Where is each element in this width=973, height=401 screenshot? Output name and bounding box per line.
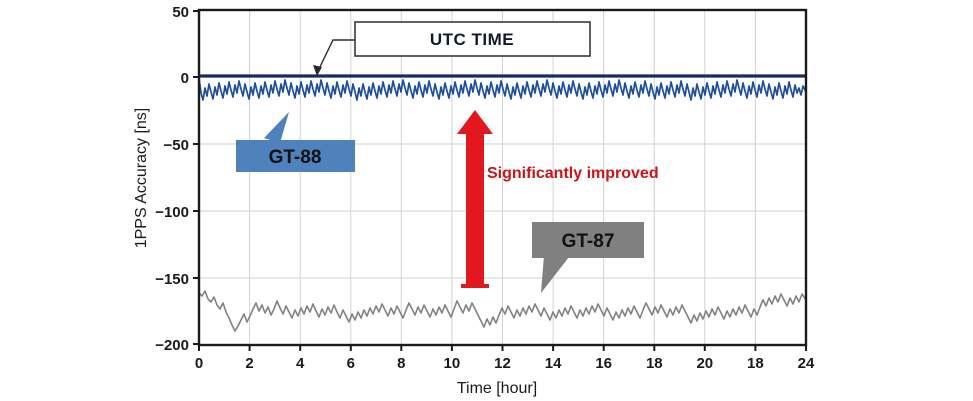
x-tick-label-2: 2 xyxy=(245,355,253,372)
y-tick-label-50: 50 xyxy=(172,4,189,21)
x-tick-label-18: 18 xyxy=(646,355,663,372)
chart-canvas: 50 0 −50 −100 −150 −200 0 2 4 6 8 10 12 … xyxy=(0,0,973,401)
y-tick-label-minus150: −150 xyxy=(155,271,189,288)
y-axis-title: 1PPS Accuracy [ns] xyxy=(133,108,150,249)
x-tick-label-6: 6 xyxy=(347,355,355,372)
y-tick-label-0: 0 xyxy=(181,70,189,87)
chart-figure: 50 0 −50 −100 −150 −200 0 2 4 6 8 10 12 … xyxy=(0,0,973,401)
x-tick-label-20: 20 xyxy=(696,355,713,372)
y-tick-label-minus50: −50 xyxy=(164,137,189,154)
gt88-label: GT-88 xyxy=(269,147,322,168)
x-tick-label-24: 24 xyxy=(798,355,815,372)
x-axis-title: Time [hour] xyxy=(457,380,537,397)
gt87-label: GT-87 xyxy=(562,231,615,252)
y-tick-label-minus100: −100 xyxy=(155,204,189,221)
x-tick-label-22: 18 xyxy=(747,355,764,372)
utc-time-label: UTC TIME xyxy=(430,30,514,49)
x-tick-label-4: 4 xyxy=(296,355,305,372)
y-tick-label-minus200: −200 xyxy=(155,337,189,354)
x-tick-label-0: 0 xyxy=(195,355,203,372)
x-tick-label-12: 12 xyxy=(494,355,511,372)
x-tick-label-16: 16 xyxy=(595,355,612,372)
x-tick-label-8: 8 xyxy=(397,355,405,372)
x-tick-label-14: 14 xyxy=(545,355,562,372)
x-tick-label-10: 10 xyxy=(444,355,461,372)
improvement-note-label: Significantly improved xyxy=(487,165,659,182)
